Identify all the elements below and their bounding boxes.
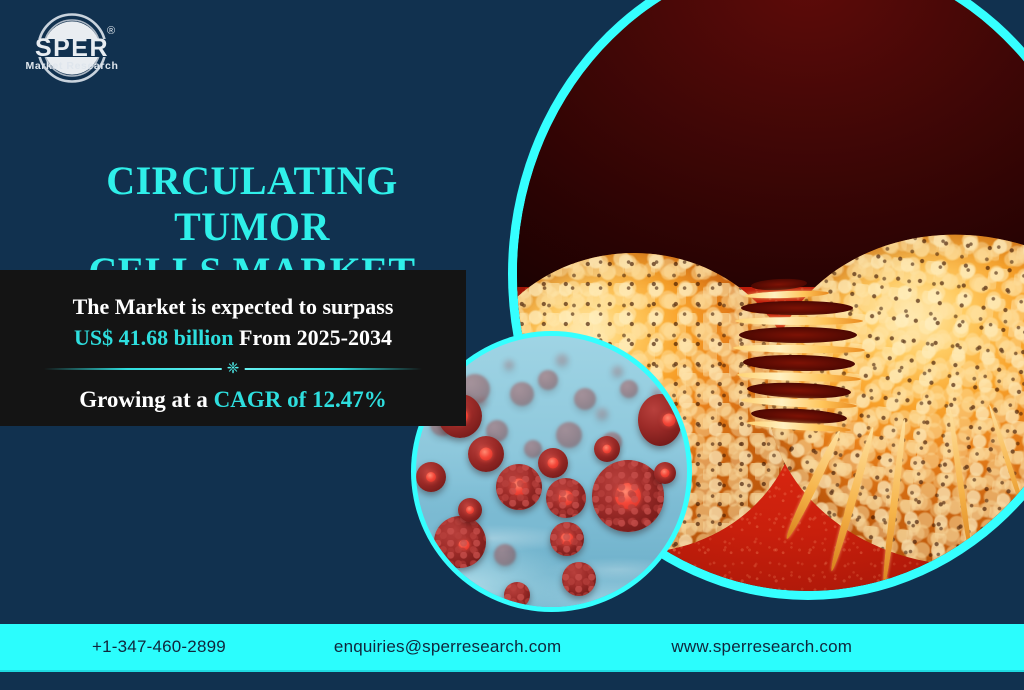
cell-nucleus: [559, 491, 574, 506]
blood-cell: [638, 394, 682, 446]
blood-cell: [556, 422, 582, 448]
cell-nucleus: [661, 469, 670, 478]
market-statement: The Market is expected to surpass: [20, 292, 446, 321]
blood-cell: [594, 436, 620, 462]
blood-cell: [562, 562, 596, 596]
blood-cell: [504, 360, 514, 370]
blood-cell: [458, 498, 482, 522]
cell-nucleus: [548, 458, 559, 469]
blood-cell: [612, 366, 623, 377]
ornamental-divider: ❈: [20, 361, 446, 377]
blood-cell: [556, 354, 568, 366]
market-value: US$ 41.68 billion: [74, 325, 234, 350]
market-value-line: US$ 41.68 billion From 2025-2034: [20, 323, 446, 352]
blood-cell: [468, 436, 504, 472]
cell-nucleus: [466, 506, 474, 514]
blood-cell: [434, 516, 486, 568]
cell-nucleus: [511, 479, 528, 496]
blood-cell: [596, 408, 608, 420]
forecast-period: From 2025-2034: [239, 325, 392, 350]
statistics-panel: The Market is expected to surpass US$ 41…: [0, 270, 466, 426]
blood-cell: [550, 522, 584, 556]
cleavage-gap: [741, 301, 853, 315]
cell-nucleus: [426, 472, 436, 482]
cagr-prefix: Growing at a: [79, 387, 208, 412]
blood-cell: [538, 448, 568, 478]
blood-cell: [504, 582, 530, 607]
sper-market-research-logo[interactable]: SPER Market Research ®: [14, 8, 150, 88]
blood-cell: [496, 464, 542, 510]
cell-nucleus: [615, 483, 641, 509]
blood-cell: [538, 370, 558, 390]
cell-nucleus: [662, 414, 675, 427]
svg-text:®: ®: [107, 25, 115, 37]
cagr-value: CAGR of 12.47%: [214, 387, 387, 412]
cell-nucleus: [561, 533, 574, 546]
blood-cell: [416, 462, 446, 492]
membrane-strand: [735, 317, 863, 325]
divider-ornament-icon: ❈: [222, 361, 245, 377]
cagr-line: Growing at a CAGR of 12.47%: [20, 385, 446, 415]
blood-cell: [620, 380, 638, 398]
contact-footer: +1-347-460-2899 enquiries@sperresearch.c…: [0, 624, 1024, 672]
blood-cell: [494, 544, 516, 566]
cleavage-gap: [739, 327, 857, 343]
blood-cell: [510, 382, 534, 406]
page-title-line-1: CIRCULATING TUMOR: [24, 158, 480, 249]
svg-text:Market Research: Market Research: [25, 60, 118, 72]
blood-cell: [574, 388, 596, 410]
marketing-banner: SPER Market Research ® CIRCULATING TUMOR…: [0, 0, 1024, 690]
cell-nucleus: [459, 540, 470, 551]
blood-cell: [654, 462, 676, 484]
cell-nucleus: [603, 445, 612, 454]
svg-text:SPER: SPER: [35, 34, 109, 62]
footer-email[interactable]: enquiries@sperresearch.com: [334, 637, 562, 657]
footer-phone[interactable]: +1-347-460-2899: [92, 637, 226, 657]
footer-website[interactable]: www.sperresearch.com: [671, 637, 852, 657]
blood-cell: [546, 478, 586, 518]
cell-nucleus: [480, 448, 493, 461]
